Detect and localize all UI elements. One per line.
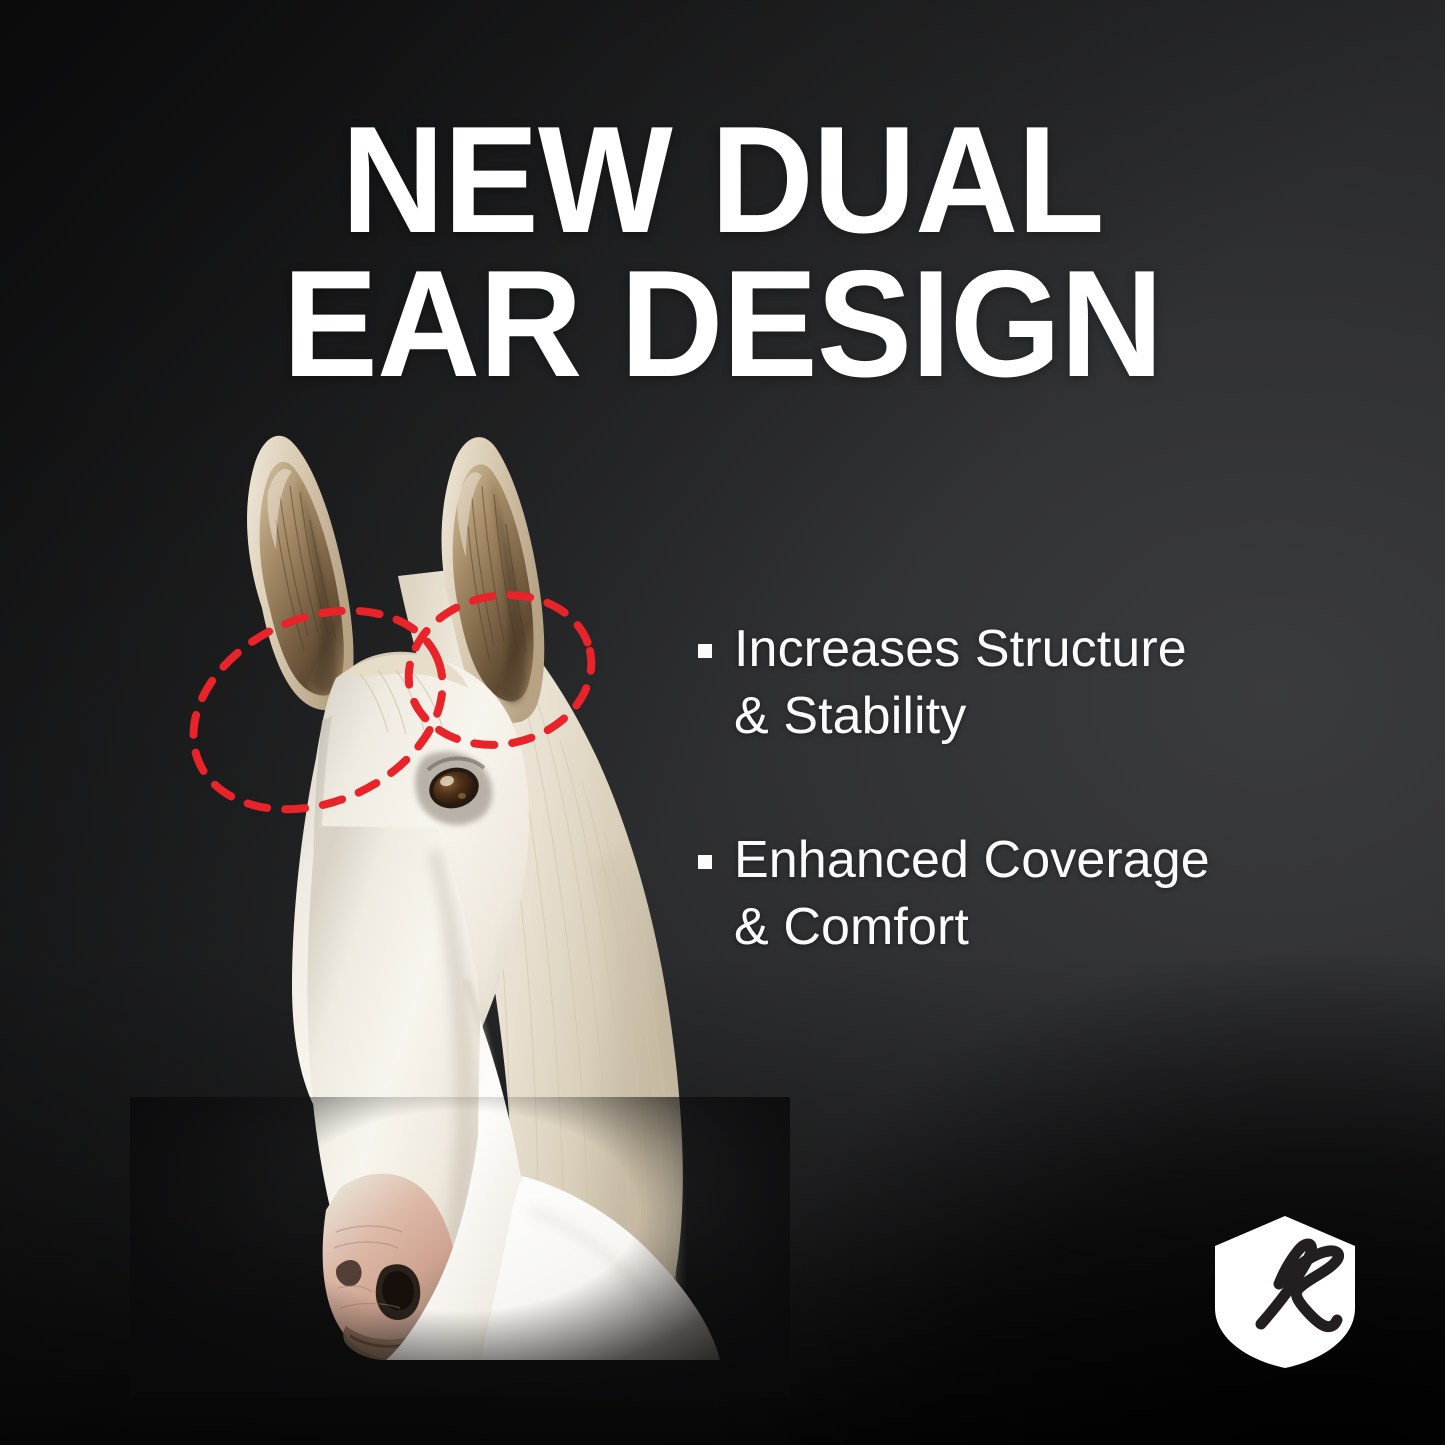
feature-text: Increases Structure & Stability	[734, 616, 1187, 749]
page-title: NEW DUAL EAR DESIGN	[43, 108, 1401, 397]
product-hero-image	[150, 420, 770, 1360]
brand-logo	[1205, 1212, 1365, 1372]
feature-list: Increases Structure & Stability Enhanced…	[698, 616, 1358, 960]
feature-text: Enhanced Coverage & Comfort	[734, 827, 1210, 960]
list-item: Increases Structure & Stability	[698, 616, 1358, 749]
advertisement-canvas: NEW DUAL EAR DESIGN	[0, 0, 1445, 1445]
horse-left-ear	[247, 436, 354, 710]
square-bullet-icon	[698, 644, 712, 658]
horse-nostril	[376, 1264, 421, 1320]
square-bullet-icon	[698, 855, 712, 869]
list-item: Enhanced Coverage & Comfort	[698, 827, 1358, 960]
